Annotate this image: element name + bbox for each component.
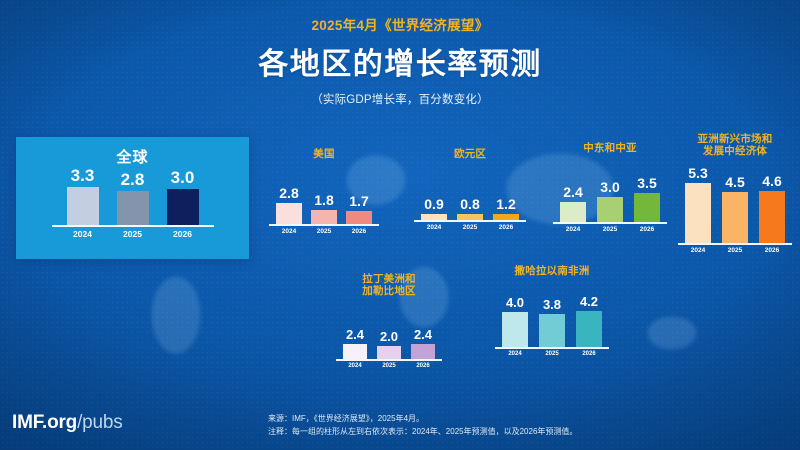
bar-item[interactable]: 2.4 xyxy=(411,305,435,359)
bar[interactable] xyxy=(634,193,660,222)
bar-series: 2.43.03.5 xyxy=(548,162,672,222)
year-labels: 202420252026 xyxy=(548,226,672,233)
bar[interactable] xyxy=(411,344,435,359)
axis-line xyxy=(336,359,442,361)
group-label-subsaharan-africa: 撒哈拉以南非洲 xyxy=(488,265,616,279)
bar-value-label: 0.8 xyxy=(460,197,479,211)
chart-group-mideast-centralasia: 中东和中亚2.43.03.5202420252026 xyxy=(548,142,672,233)
year-label: 2025 xyxy=(539,351,565,357)
bar-item[interactable]: 3.8 xyxy=(539,285,565,347)
bar-value-label: 2.4 xyxy=(414,328,432,341)
group-label-united-states: 美国 xyxy=(268,148,380,162)
axis-line xyxy=(495,347,609,349)
bar-value-label: 4.2 xyxy=(580,295,598,308)
bar-item[interactable]: 3.0 xyxy=(167,167,199,225)
year-label: 2026 xyxy=(759,247,785,254)
bar-value-label: 4.0 xyxy=(506,296,524,309)
bar-series: 2.42.02.4 xyxy=(330,305,448,359)
bar-value-label: 3.3 xyxy=(71,167,95,184)
bar-item[interactable]: 0.9 xyxy=(421,168,447,220)
bar-value-label: 5.3 xyxy=(688,166,707,180)
bar-series: 5.34.54.6 xyxy=(672,165,798,243)
group-label-emerging-asia: 亚洲新兴市场和 发展中经济体 xyxy=(672,133,798,159)
bar-value-label: 3.0 xyxy=(171,169,195,186)
chart-group-subsaharan-africa: 撒哈拉以南非洲4.03.84.2202420252026 xyxy=(488,265,616,357)
imf-pubs-logo[interactable]: IMF.org/pubs xyxy=(12,412,123,434)
chart-subsaharan-africa: 4.03.84.2202420252026 xyxy=(488,285,616,357)
bar-value-label: 2.4 xyxy=(346,328,364,341)
bar-item[interactable]: 2.8 xyxy=(117,167,149,225)
chart-group-united-states: 美国2.81.81.7202420252026 xyxy=(268,148,380,235)
year-labels: 202420252026 xyxy=(330,363,448,369)
global-panel-title: 全球 xyxy=(16,146,249,167)
chart-group-global: 3.32.83.0202420252026 xyxy=(16,167,249,247)
bar-item[interactable]: 2.8 xyxy=(276,168,302,224)
bar-value-label: 3.8 xyxy=(543,298,561,311)
bar[interactable] xyxy=(377,346,401,359)
bar-series: 2.81.81.7 xyxy=(268,168,380,224)
bar[interactable] xyxy=(167,189,199,225)
group-label-mideast-centralasia: 中东和中亚 xyxy=(548,142,672,156)
global-highlight-panel: 全球 3.32.83.0202420252026 xyxy=(16,137,249,259)
bar[interactable] xyxy=(311,210,337,224)
year-label: 2024 xyxy=(421,224,447,231)
chart-euro-area: 0.90.81.2202420252026 xyxy=(410,168,530,231)
bar[interactable] xyxy=(576,311,602,347)
chart-group-euro-area: 欧元区0.90.81.2202420252026 xyxy=(410,148,530,231)
bar-value-label: 2.0 xyxy=(380,330,398,343)
bar-value-label: 4.5 xyxy=(725,175,744,189)
year-label: 2026 xyxy=(493,224,519,231)
year-label: 2026 xyxy=(576,351,602,357)
year-label: 2026 xyxy=(634,226,660,233)
group-label-latin-america: 拉丁美洲和 加勒比地区 xyxy=(330,273,448,299)
bar-value-label: 3.5 xyxy=(637,176,656,190)
bar-item[interactable]: 3.5 xyxy=(634,162,660,222)
year-label: 2025 xyxy=(311,228,337,235)
year-label: 2024 xyxy=(67,229,99,239)
bar[interactable] xyxy=(685,183,711,243)
bar-value-label: 2.8 xyxy=(121,171,145,188)
bar[interactable] xyxy=(759,191,785,243)
group-label-euro-area: 欧元区 xyxy=(410,148,530,162)
year-label: 2024 xyxy=(502,351,528,357)
year-label: 2024 xyxy=(685,247,711,254)
logo-bold-text: IMF.org xyxy=(12,412,77,433)
bar-item[interactable]: 0.8 xyxy=(457,168,483,220)
year-labels: 202420252026 xyxy=(672,247,798,254)
chart-emerging-asia: 5.34.54.6202420252026 xyxy=(672,165,798,254)
bar-value-label: 1.7 xyxy=(349,194,368,208)
bar-item[interactable]: 3.0 xyxy=(597,162,623,222)
axis-line xyxy=(678,243,792,245)
year-label: 2026 xyxy=(346,228,372,235)
infographic-stage: 2025年4月《世界经济展望》 各地区的增长率预测 （实际GDP增长率，百分数变… xyxy=(0,0,800,450)
source-line: 来源：IMF，《世界经济展望》，2025年4月。 xyxy=(268,412,577,425)
note-line: 注释：每一组的柱形从左到右依次表示：2024年、2025年预测值，以及2026年… xyxy=(268,425,577,438)
chart-latin-america: 2.42.02.4202420252026 xyxy=(330,305,448,369)
bar-item[interactable]: 2.4 xyxy=(343,305,367,359)
header: 2025年4月《世界经济展望》 各地区的增长率预测 （实际GDP增长率，百分数变… xyxy=(0,14,800,107)
axis-line xyxy=(553,222,667,224)
axis-line xyxy=(414,220,526,222)
bar[interactable] xyxy=(67,187,99,225)
bar-item[interactable]: 4.2 xyxy=(576,285,602,347)
year-label: 2025 xyxy=(457,224,483,231)
bar-item[interactable]: 2.4 xyxy=(560,162,586,222)
year-label: 2026 xyxy=(167,229,199,239)
year-labels: 202420252026 xyxy=(268,228,380,235)
bar-value-label: 2.8 xyxy=(279,186,298,200)
bar-item[interactable]: 1.7 xyxy=(346,168,372,224)
bar-series: 0.90.81.2 xyxy=(410,168,530,220)
chart-group-emerging-asia: 亚洲新兴市场和 发展中经济体5.34.54.6202420252026 xyxy=(672,133,798,254)
chart-mideast-centralasia: 2.43.03.5202420252026 xyxy=(548,162,672,233)
bar[interactable] xyxy=(343,344,367,359)
bar-series: 3.32.83.0 xyxy=(16,167,249,225)
year-labels: 202420252026 xyxy=(16,229,249,239)
bar[interactable] xyxy=(722,192,748,243)
bar-item[interactable]: 4.6 xyxy=(759,165,785,243)
bar-value-label: 4.6 xyxy=(762,174,781,188)
bar-value-label: 0.9 xyxy=(424,197,443,211)
bar-value-label: 3.0 xyxy=(600,180,619,194)
bar-item[interactable]: 1.2 xyxy=(493,168,519,220)
chart-united-states: 2.81.81.7202420252026 xyxy=(268,168,380,235)
year-labels: 202420252026 xyxy=(410,224,530,231)
axis-line xyxy=(269,224,379,226)
bar[interactable] xyxy=(539,314,565,347)
bar-value-label: 1.8 xyxy=(314,193,333,207)
bar[interactable] xyxy=(502,312,528,347)
bar[interactable] xyxy=(597,197,623,222)
year-label: 2025 xyxy=(377,363,401,369)
bar-item[interactable]: 1.8 xyxy=(311,168,337,224)
bar-value-label: 1.2 xyxy=(496,197,515,211)
year-label: 2025 xyxy=(117,229,149,239)
bar[interactable] xyxy=(276,203,302,224)
bar-item[interactable]: 5.3 xyxy=(685,165,711,243)
year-label: 2024 xyxy=(276,228,302,235)
bar-item[interactable]: 2.0 xyxy=(377,305,401,359)
year-label: 2024 xyxy=(560,226,586,233)
bar[interactable] xyxy=(117,191,149,225)
bar-item[interactable]: 4.5 xyxy=(722,165,748,243)
year-label: 2025 xyxy=(722,247,748,254)
logo-light-text: /pubs xyxy=(77,412,122,433)
footnotes: 来源：IMF，《世界经济展望》，2025年4月。 注释：每一组的柱形从左到右依次… xyxy=(268,412,577,438)
bar-item[interactable]: 4.0 xyxy=(502,285,528,347)
page-subtitle: （实际GDP增长率，百分数变化） xyxy=(0,91,800,107)
chart-group-latin-america: 拉丁美洲和 加勒比地区2.42.02.4202420252026 xyxy=(330,273,448,369)
axis-line xyxy=(52,225,214,227)
chart-global: 3.32.83.0202420252026 xyxy=(16,167,249,239)
page-title: 各地区的增长率预测 xyxy=(0,39,800,83)
year-labels: 202420252026 xyxy=(488,351,616,357)
bar-series: 4.03.84.2 xyxy=(488,285,616,347)
year-label: 2026 xyxy=(411,363,435,369)
bar-item[interactable]: 3.3 xyxy=(67,167,99,225)
bar[interactable] xyxy=(346,211,372,224)
bar[interactable] xyxy=(560,202,586,222)
year-label: 2024 xyxy=(343,363,367,369)
bar-value-label: 2.4 xyxy=(563,185,582,199)
year-label: 2025 xyxy=(597,226,623,233)
report-eyebrow: 2025年4月《世界经济展望》 xyxy=(0,14,800,34)
